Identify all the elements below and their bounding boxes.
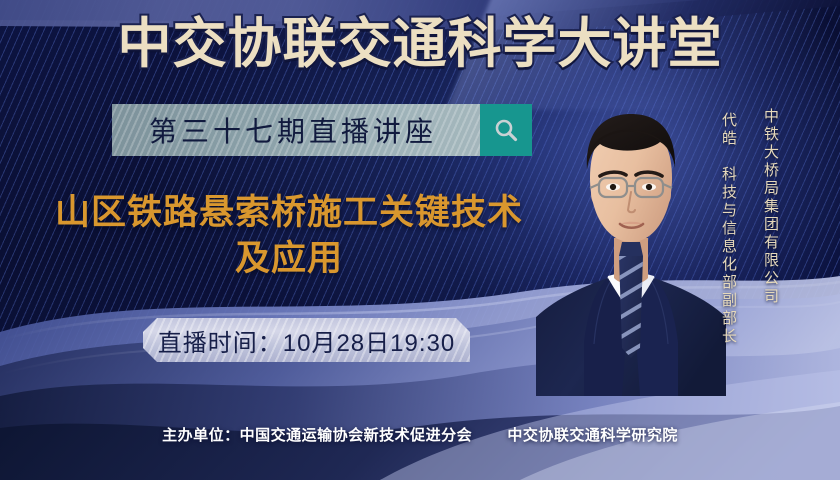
topic-line-1: 山区铁路悬索桥施工关键技术 xyxy=(55,193,523,232)
live-time-label: 直播时间：10月28日19:30 xyxy=(158,323,455,358)
search-icon xyxy=(492,116,520,144)
topic-line-2: 及应用 xyxy=(24,236,554,282)
footer: 主办单位：中国交通运输协会新技术促进分会 中交协联交通科学研究院 xyxy=(0,424,840,445)
search-button[interactable] xyxy=(480,104,532,156)
live-time-banner: 直播时间：10月28日19:30 xyxy=(143,318,470,362)
lecture-topic: 山区铁路悬索桥施工关键技术 及应用 xyxy=(24,190,554,282)
speaker-photo xyxy=(536,96,726,396)
institute-label: 中交协联交通科学研究院 xyxy=(507,427,678,444)
organizer-label: 主办单位：中国交通运输协会新技术促进分会 xyxy=(162,427,472,444)
episode-banner: 第三十七期直播讲座 xyxy=(112,104,532,156)
page-title: 中交协联交通科学大讲堂 xyxy=(0,14,840,74)
live-lecture-poster: 中交协联交通科学大讲堂 第三十七期直播讲座 山区铁路悬索桥施工关键技术 及应用 … xyxy=(0,0,840,480)
episode-label: 第三十七期直播讲座 xyxy=(112,104,480,156)
speaker-name-and-position: 代皓 科技与信息化部副部长 xyxy=(718,112,739,346)
speaker-organization: 中铁大桥局集团有限公司 xyxy=(760,108,781,306)
